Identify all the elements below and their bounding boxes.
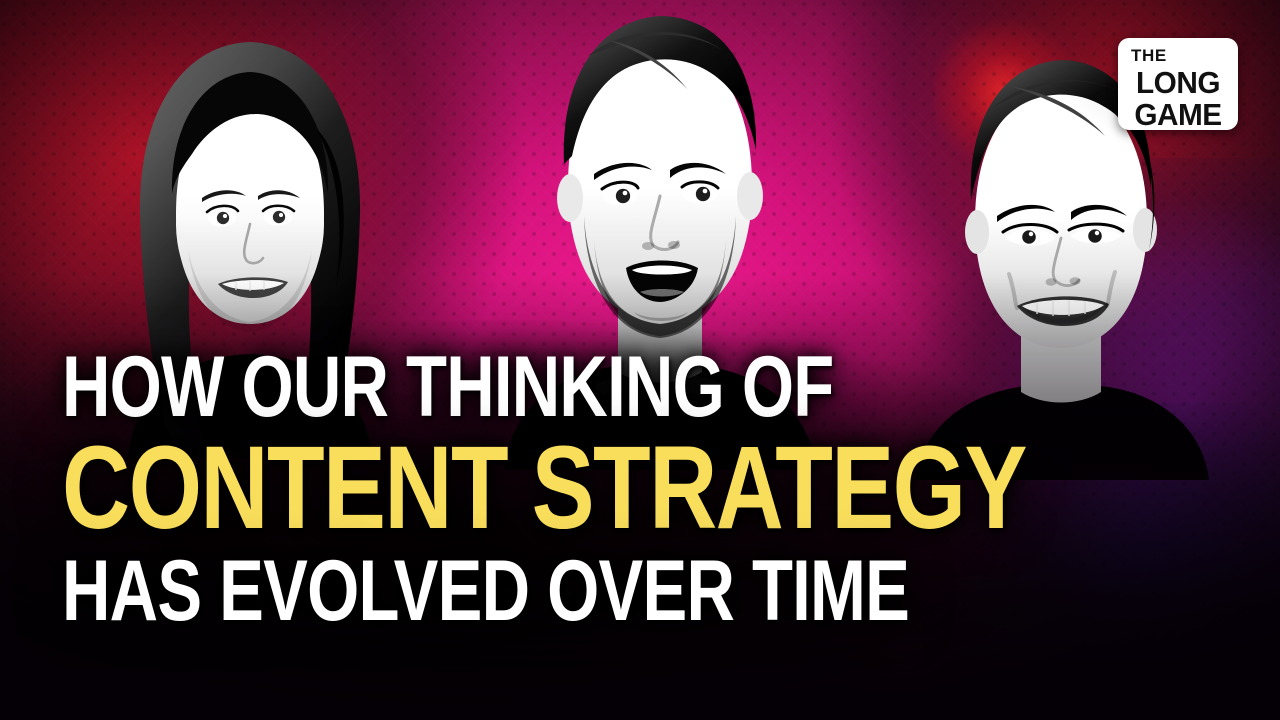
- headline-line-1: HOW OUR THINKING OF: [62, 348, 850, 428]
- headline-block: HOW OUR THINKING OF CONTENT STRATEGY HAS…: [62, 348, 1072, 632]
- logo-line-game: GAME: [1131, 99, 1225, 131]
- headline-line-2: CONTENT STRATEGY: [62, 434, 870, 544]
- logo-line-the: THE: [1131, 47, 1167, 64]
- the-long-game-logo: THE LONG GAME: [1118, 38, 1238, 130]
- headline-line-3: HAS EVOLVED OVER TIME: [62, 552, 850, 632]
- video-thumbnail: HOW OUR THINKING OF CONTENT STRATEGY HAS…: [0, 0, 1280, 720]
- logo-line-long: LONG: [1131, 67, 1225, 99]
